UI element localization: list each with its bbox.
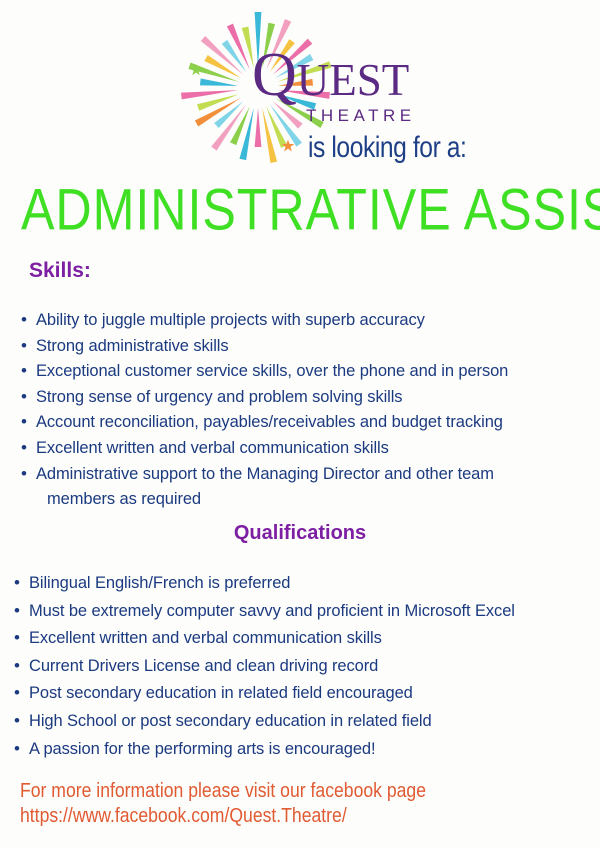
qualification-item: Excellent written and verbal communicati… (14, 625, 594, 653)
logo-header: QUEST THEATRE is looking for a: (0, 0, 600, 178)
brand-uest: UEST (297, 55, 410, 105)
skill-item: Strong sense of urgency and problem solv… (21, 385, 591, 411)
footer-line-1: For more information please visit our fa… (20, 779, 426, 804)
brand-q: Q (252, 41, 297, 109)
qualification-item: A passion for the performing arts is enc… (14, 736, 594, 764)
skills-list: Ability to juggle multiple projects with… (21, 308, 591, 513)
skill-item: Ability to juggle multiple projects with… (21, 308, 591, 334)
footer-contact: For more information please visit our fa… (20, 779, 426, 829)
skills-heading: Skills: (29, 259, 91, 283)
qualifications-list: Bilingual English/French is preferredMus… (14, 570, 594, 763)
qualification-item: Current Drivers License and clean drivin… (14, 653, 594, 681)
qualification-item: Bilingual English/French is preferred (14, 570, 594, 598)
skill-item-continuation: members as required (21, 487, 591, 513)
skill-item: Exceptional customer service skills, ove… (21, 359, 591, 385)
qualifications-heading: Qualifications (0, 522, 600, 545)
skill-item: Strong administrative skills (21, 334, 591, 360)
qualification-item: Must be extremely computer savvy and pro… (14, 598, 594, 626)
job-title: ADMINISTRATIVE ASSISTANT (21, 181, 579, 239)
brand-wordmark: QUEST THEATRE (252, 46, 416, 124)
footer-facebook-url[interactable]: https://www.facebook.com/Quest.Theatre/ (20, 804, 426, 829)
qualification-item: High School or post secondary education … (14, 708, 594, 736)
skill-item: Excellent written and verbal communicati… (21, 436, 591, 462)
skill-item: Account reconciliation, payables/receiva… (21, 410, 591, 436)
tagline: is looking for a: (308, 131, 466, 165)
brand-name-theatre: THEATRE (306, 107, 416, 124)
qualification-item: Post secondary education in related fiel… (14, 680, 594, 708)
skill-item: Administrative support to the Managing D… (21, 462, 591, 488)
brand-name-quest: QUEST (252, 46, 416, 105)
